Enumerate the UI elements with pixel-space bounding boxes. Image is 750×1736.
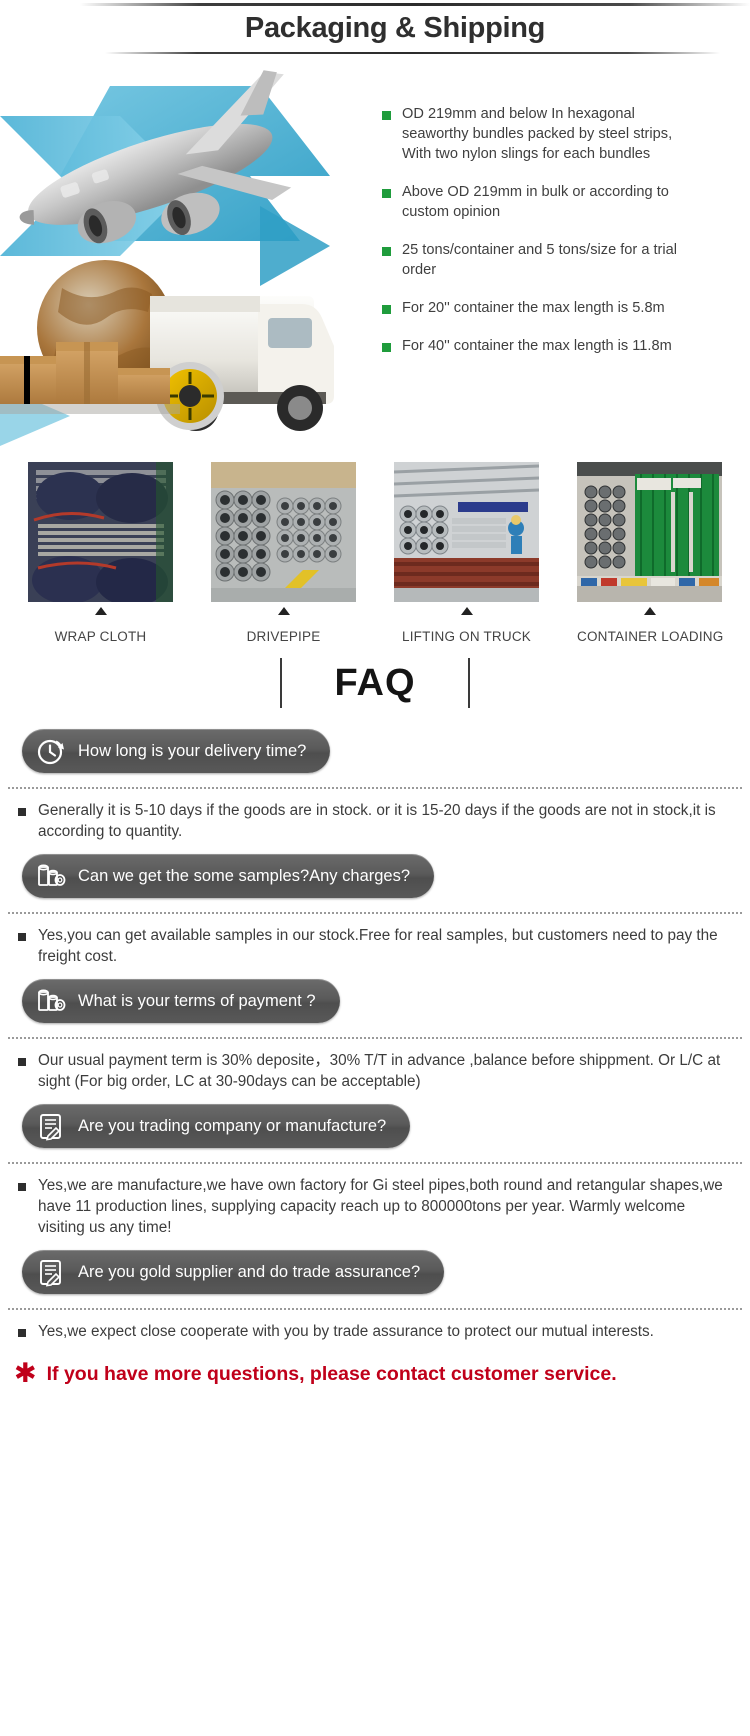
gallery-caption: WRAP CLOTH: [28, 629, 173, 644]
faq-answer-5: Yes,we expect close cooperate with you b…: [18, 1321, 736, 1342]
square-bullet-icon: [18, 808, 26, 816]
faq-answer-text: Generally it is 5-10 days if the goods a…: [38, 800, 736, 842]
header-bottom-rule: [105, 52, 720, 54]
faq-question-1[interactable]: How long is your delivery time?: [22, 729, 330, 773]
faq-answer-2: Yes,you can get available samples in our…: [18, 925, 736, 967]
square-bullet-icon: [382, 189, 391, 198]
faq-divider: [8, 1308, 742, 1310]
page-header: Packaging & Shipping: [0, 0, 750, 56]
square-bullet-icon: [18, 1329, 26, 1337]
pipes-icon: [36, 861, 66, 891]
faq-divider-right: [468, 658, 470, 708]
list-item: For 20'' container the max length is 5.8…: [382, 298, 682, 318]
gallery-caption: CONTAINER LOADING: [577, 629, 722, 644]
square-bullet-icon: [382, 247, 391, 256]
faq-question-4[interactable]: Are you trading company or manufacture?: [22, 1104, 410, 1148]
document-pen-icon: [36, 1111, 66, 1141]
faq-divider: [8, 1037, 742, 1039]
faq-answer-text: Yes,we expect close cooperate with you b…: [38, 1321, 654, 1342]
square-bullet-icon: [382, 305, 391, 314]
caption-arrow-icon: [644, 607, 656, 615]
gallery-item-container-loading: CONTAINER LOADING: [577, 462, 722, 644]
square-bullet-icon: [382, 111, 391, 120]
faq-question-3[interactable]: What is your terms of payment ?: [22, 979, 340, 1023]
list-item: Above OD 219mm in bulk or according to c…: [382, 182, 682, 222]
faq-question-text: Are you trading company or manufacture?: [78, 1117, 386, 1136]
wrap-cloth-photo: [28, 462, 173, 602]
packaging-hero: OD 219mm and below In hexagonal seaworth…: [0, 56, 750, 454]
faq-answer-text: Our usual payment term is 30% deposite，3…: [38, 1050, 736, 1092]
square-bullet-icon: [18, 1058, 26, 1066]
square-bullet-icon: [382, 343, 391, 352]
bullet-text: Above OD 219mm in bulk or according to c…: [402, 182, 682, 222]
list-item: 25 tons/container and 5 tons/size for a …: [382, 240, 682, 280]
container-loading-photo: [577, 462, 722, 602]
faq-divider: [8, 912, 742, 914]
gallery-caption: LIFTING ON TRUCK: [394, 629, 539, 644]
faq-divider-left: [280, 658, 282, 708]
list-item: For 40'' container the max length is 11.…: [382, 336, 682, 356]
gallery-item-wrap-cloth: WRAP CLOTH: [28, 462, 173, 644]
pipes-icon: [36, 986, 66, 1016]
faq-answer-text: Yes,we are manufacture,we have own facto…: [38, 1175, 736, 1238]
shipping-illustration: [0, 56, 390, 454]
bullet-text: OD 219mm and below In hexagonal seaworth…: [402, 104, 682, 164]
faq-answer-text: Yes,you can get available samples in our…: [38, 925, 736, 967]
drivepipe-photo: [211, 462, 356, 602]
faq-title: FAQ: [334, 662, 415, 705]
faq-question-5[interactable]: Are you gold supplier and do trade assur…: [22, 1250, 444, 1294]
faq-divider: [8, 1162, 742, 1164]
gallery-caption: DRIVEPIPE: [211, 629, 356, 644]
lifting-on-truck-photo: [394, 462, 539, 602]
faq-section-header: FAQ: [0, 649, 750, 717]
document-pen-icon: [36, 1257, 66, 1287]
gallery-item-drivepipe: DRIVEPIPE: [211, 462, 356, 644]
list-item: OD 219mm and below In hexagonal seaworth…: [382, 104, 682, 164]
packaging-bullet-list: OD 219mm and below In hexagonal seaworth…: [382, 104, 682, 374]
bullet-text: For 20'' container the max length is 5.8…: [402, 298, 665, 318]
packaging-gallery: WRAP CLOTH: [0, 462, 750, 647]
page-title: Packaging & Shipping: [0, 12, 750, 45]
faq-answer-3: Our usual payment term is 30% deposite，3…: [18, 1050, 736, 1092]
asterisk-icon: ✱: [14, 1362, 37, 1384]
caption-arrow-icon: [461, 607, 473, 615]
clock-icon: [36, 736, 66, 766]
contact-notice-text: If you have more questions, please conta…: [47, 1362, 617, 1387]
faq-list: How long is your delivery time? Generall…: [0, 717, 750, 1342]
faq-question-text: How long is your delivery time?: [78, 742, 306, 761]
faq-question-2[interactable]: Can we get the some samples?Any charges?: [22, 854, 434, 898]
caption-arrow-icon: [278, 607, 290, 615]
faq-question-text: Are you gold supplier and do trade assur…: [78, 1263, 420, 1282]
square-bullet-icon: [18, 933, 26, 941]
contact-notice: ✱ If you have more questions, please con…: [14, 1362, 736, 1387]
faq-question-text: Can we get the some samples?Any charges?: [78, 867, 410, 886]
bullet-text: For 40'' container the max length is 11.…: [402, 336, 672, 356]
faq-question-text: What is your terms of payment ?: [78, 992, 316, 1011]
bullet-text: 25 tons/container and 5 tons/size for a …: [402, 240, 682, 280]
caption-arrow-icon: [95, 607, 107, 615]
header-top-rule: [80, 3, 750, 6]
faq-answer-4: Yes,we are manufacture,we have own facto…: [18, 1175, 736, 1238]
gallery-item-lifting-on-truck: LIFTING ON TRUCK: [394, 462, 539, 644]
faq-answer-1: Generally it is 5-10 days if the goods a…: [18, 800, 736, 842]
faq-divider: [8, 787, 742, 789]
square-bullet-icon: [18, 1183, 26, 1191]
